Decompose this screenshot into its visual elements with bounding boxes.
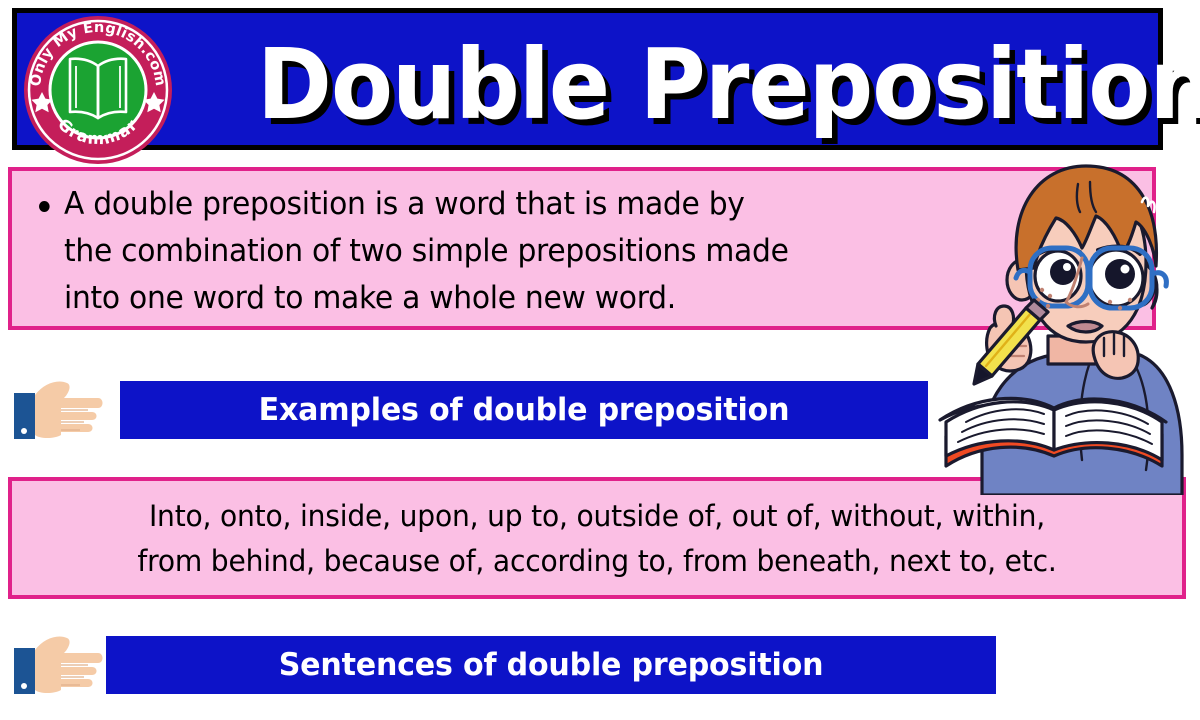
sentences-heading-row: Sentences of double preposition [14,634,996,696]
examples-box: Into, onto, inside, upon, up to, outside… [8,477,1186,599]
boy-hand-right [1093,332,1138,379]
examples-text: Into, onto, inside, upon, up to, outside… [12,481,1182,584]
definition-line-2: the combination of two simple prepositio… [64,233,789,269]
definition-line-1: A double preposition is a word that is m… [64,186,745,222]
examples-heading-row: Examples of double preposition [14,379,928,441]
sentences-heading-bar[interactable]: Sentences of double preposition [106,636,996,694]
definition-line-3: into one word to make a whole new word. [64,280,676,316]
header-bar: Double Preposition [12,8,1163,150]
pointing-hand-icon [14,379,106,441]
boy-mouth [1068,322,1102,333]
pointing-hand-icon [14,634,106,696]
examples-line-1: Into, onto, inside, upon, up to, outside… [35,494,1158,539]
page-title: Double Preposition [257,21,1113,149]
examples-line-2: from behind, because of, according to, f… [35,539,1158,584]
examples-heading-label: Examples of double preposition [132,392,916,428]
sentences-heading-label: Sentences of double preposition [119,647,982,683]
examples-heading-bar[interactable]: Examples of double preposition [120,381,928,439]
thinking-boy-illustration [930,150,1200,495]
site-logo-badge: Only My English.com Grammar [22,14,174,166]
